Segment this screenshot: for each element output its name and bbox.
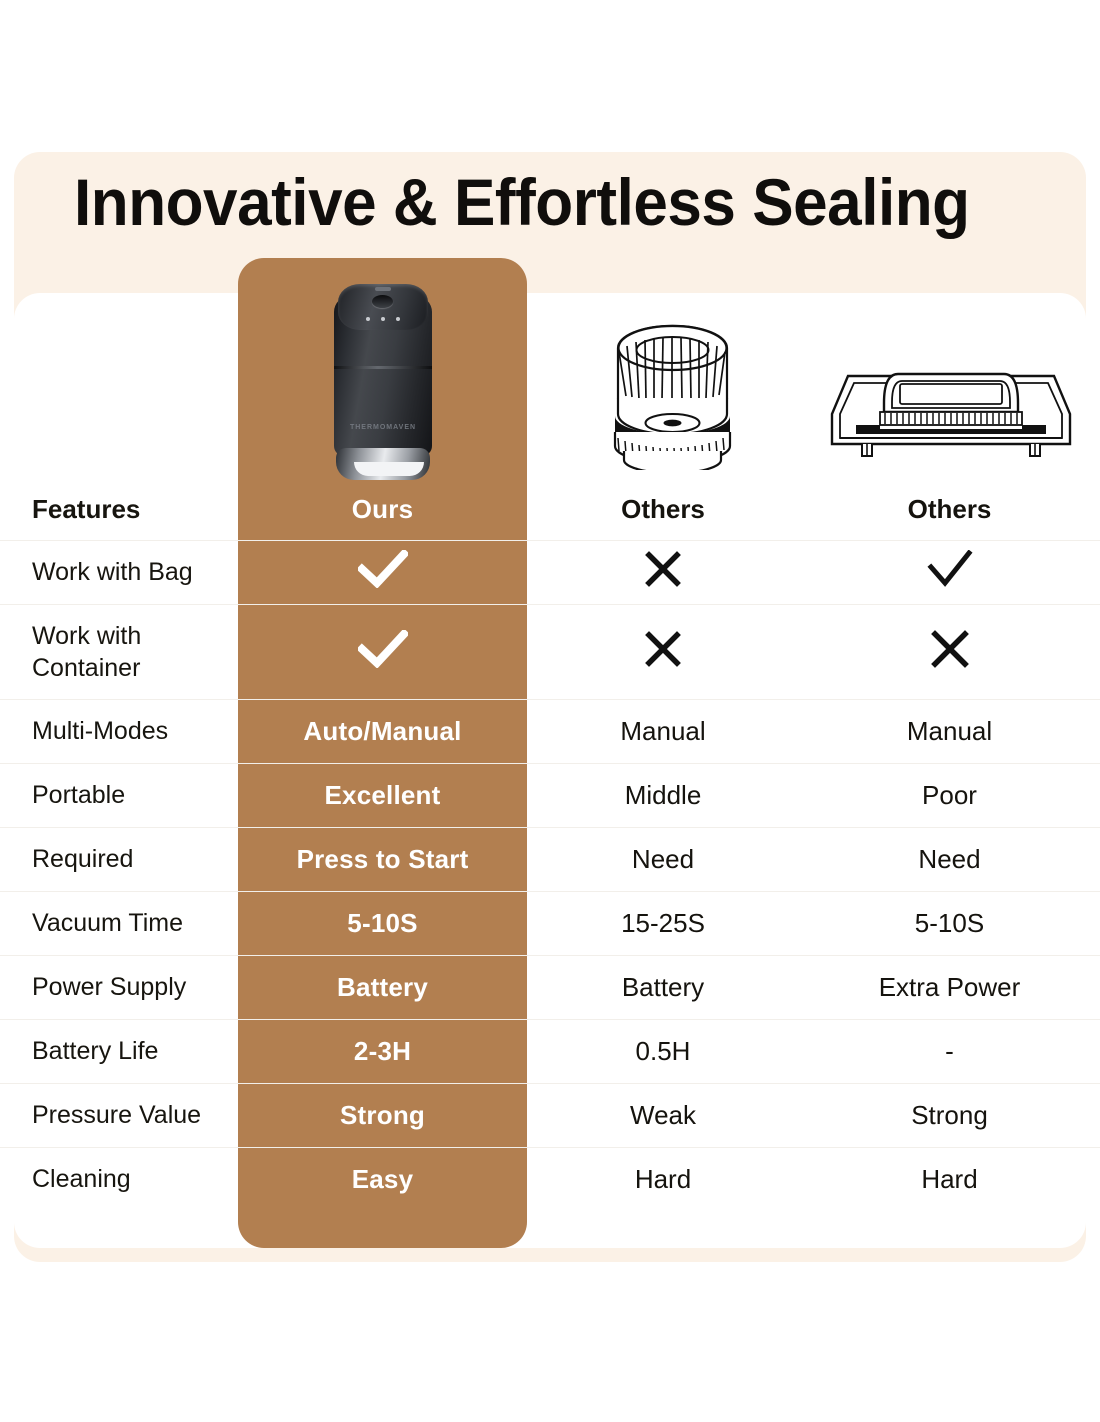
table-row: Portable Excellent Middle Poor xyxy=(0,763,1100,827)
sealer-power-button-icon xyxy=(372,295,393,308)
cell-ours: 2-3H xyxy=(238,1036,527,1067)
table-row: Vacuum Time 5-10S 15-25S 5-10S xyxy=(0,891,1100,955)
comparison-infographic: Innovative & Effortless Sealing THERMOMA… xyxy=(0,0,1100,1422)
cell-other-1: 0.5H xyxy=(527,1036,799,1067)
cell-other-2: Need xyxy=(799,844,1100,875)
table-row: Work with Bag xyxy=(0,540,1100,604)
cross-icon xyxy=(644,630,682,668)
cell-ours: Easy xyxy=(238,1164,527,1195)
table-row: Required Press to Start Need Need xyxy=(0,827,1100,891)
cell-ours: Auto/Manual xyxy=(238,716,527,747)
cell-ours: Strong xyxy=(238,1100,527,1131)
row-label: Work with Container xyxy=(0,620,238,684)
comparison-table: Features Ours Others Others Work with Ba… xyxy=(0,478,1100,1211)
cell-other-1: Middle xyxy=(527,780,799,811)
table-header-row: Features Ours Others Others xyxy=(0,478,1100,540)
row-label: Pressure Value xyxy=(0,1100,238,1131)
row-label: Cleaning xyxy=(0,1164,238,1195)
cell-other-1: 15-25S xyxy=(527,908,799,939)
cell-ours: Press to Start xyxy=(238,844,527,875)
sealer-seam xyxy=(334,366,432,369)
sealer-led-indicators xyxy=(366,317,400,321)
cell-other-2: Strong xyxy=(799,1100,1100,1131)
page-title: Innovative & Effortless Sealing xyxy=(74,163,976,241)
row-label: Vacuum Time xyxy=(0,908,238,939)
cell-other-2 xyxy=(799,629,1100,676)
check-icon xyxy=(358,630,408,668)
table-row: Work with Container xyxy=(0,604,1100,699)
column-header-ours: Ours xyxy=(238,494,527,525)
cell-other-2: Poor xyxy=(799,780,1100,811)
column-header-features: Features xyxy=(0,494,238,525)
cell-other-2 xyxy=(799,550,1100,595)
cell-other-2: Manual xyxy=(799,716,1100,747)
cell-other-1: Hard xyxy=(527,1164,799,1195)
table-row: Pressure Value Strong Weak Strong xyxy=(0,1083,1100,1147)
row-label: Multi-Modes xyxy=(0,716,238,747)
check-icon xyxy=(358,550,408,588)
cell-other-2: 5-10S xyxy=(799,908,1100,939)
sealer-transparent-base xyxy=(336,448,430,480)
cell-other-2: Hard xyxy=(799,1164,1100,1195)
row-label: Work with Bag xyxy=(0,557,238,588)
column-header-others-2: Others xyxy=(799,494,1100,525)
table-row: Power Supply Battery Battery Extra Power xyxy=(0,955,1100,1019)
column-header-others-1: Others xyxy=(527,494,799,525)
table-row: Multi-Modes Auto/Manual Manual Manual xyxy=(0,699,1100,763)
cell-ours: 5-10S xyxy=(238,908,527,939)
ours-product-image: THERMOMAVEN xyxy=(330,278,436,478)
cross-icon xyxy=(644,550,682,588)
cell-other-1: Battery xyxy=(527,972,799,1003)
cell-other-2: Extra Power xyxy=(799,972,1100,1003)
row-label-line-1: Work with xyxy=(32,622,141,650)
cell-other-2: - xyxy=(799,1036,1100,1067)
brand-logo: THERMOMAVEN xyxy=(330,424,436,431)
row-label: Power Supply xyxy=(0,972,238,1003)
other-product-1-image xyxy=(600,320,745,470)
cross-icon xyxy=(930,629,970,669)
cell-ours: Battery xyxy=(238,972,527,1003)
cell-other-1 xyxy=(527,550,799,595)
cell-ours xyxy=(238,550,527,595)
cell-ours xyxy=(238,630,527,675)
row-label: Portable xyxy=(0,780,238,811)
cell-other-1: Need xyxy=(527,844,799,875)
cell-other-1: Manual xyxy=(527,716,799,747)
row-label-line-2: Container xyxy=(32,654,140,682)
row-label: Battery Life xyxy=(0,1036,238,1067)
sealer-vent-slot xyxy=(375,287,391,291)
cell-other-1 xyxy=(527,630,799,675)
table-row: Battery Life 2-3H 0.5H - xyxy=(0,1019,1100,1083)
row-label: Required xyxy=(0,844,238,875)
product-image-band: THERMOMAVEN xyxy=(0,258,1100,483)
other-product-2-image xyxy=(822,356,1080,468)
table-row: Cleaning Easy Hard Hard xyxy=(0,1147,1100,1211)
cell-other-1: Weak xyxy=(527,1100,799,1131)
cell-ours: Excellent xyxy=(238,780,527,811)
check-icon xyxy=(927,550,973,588)
